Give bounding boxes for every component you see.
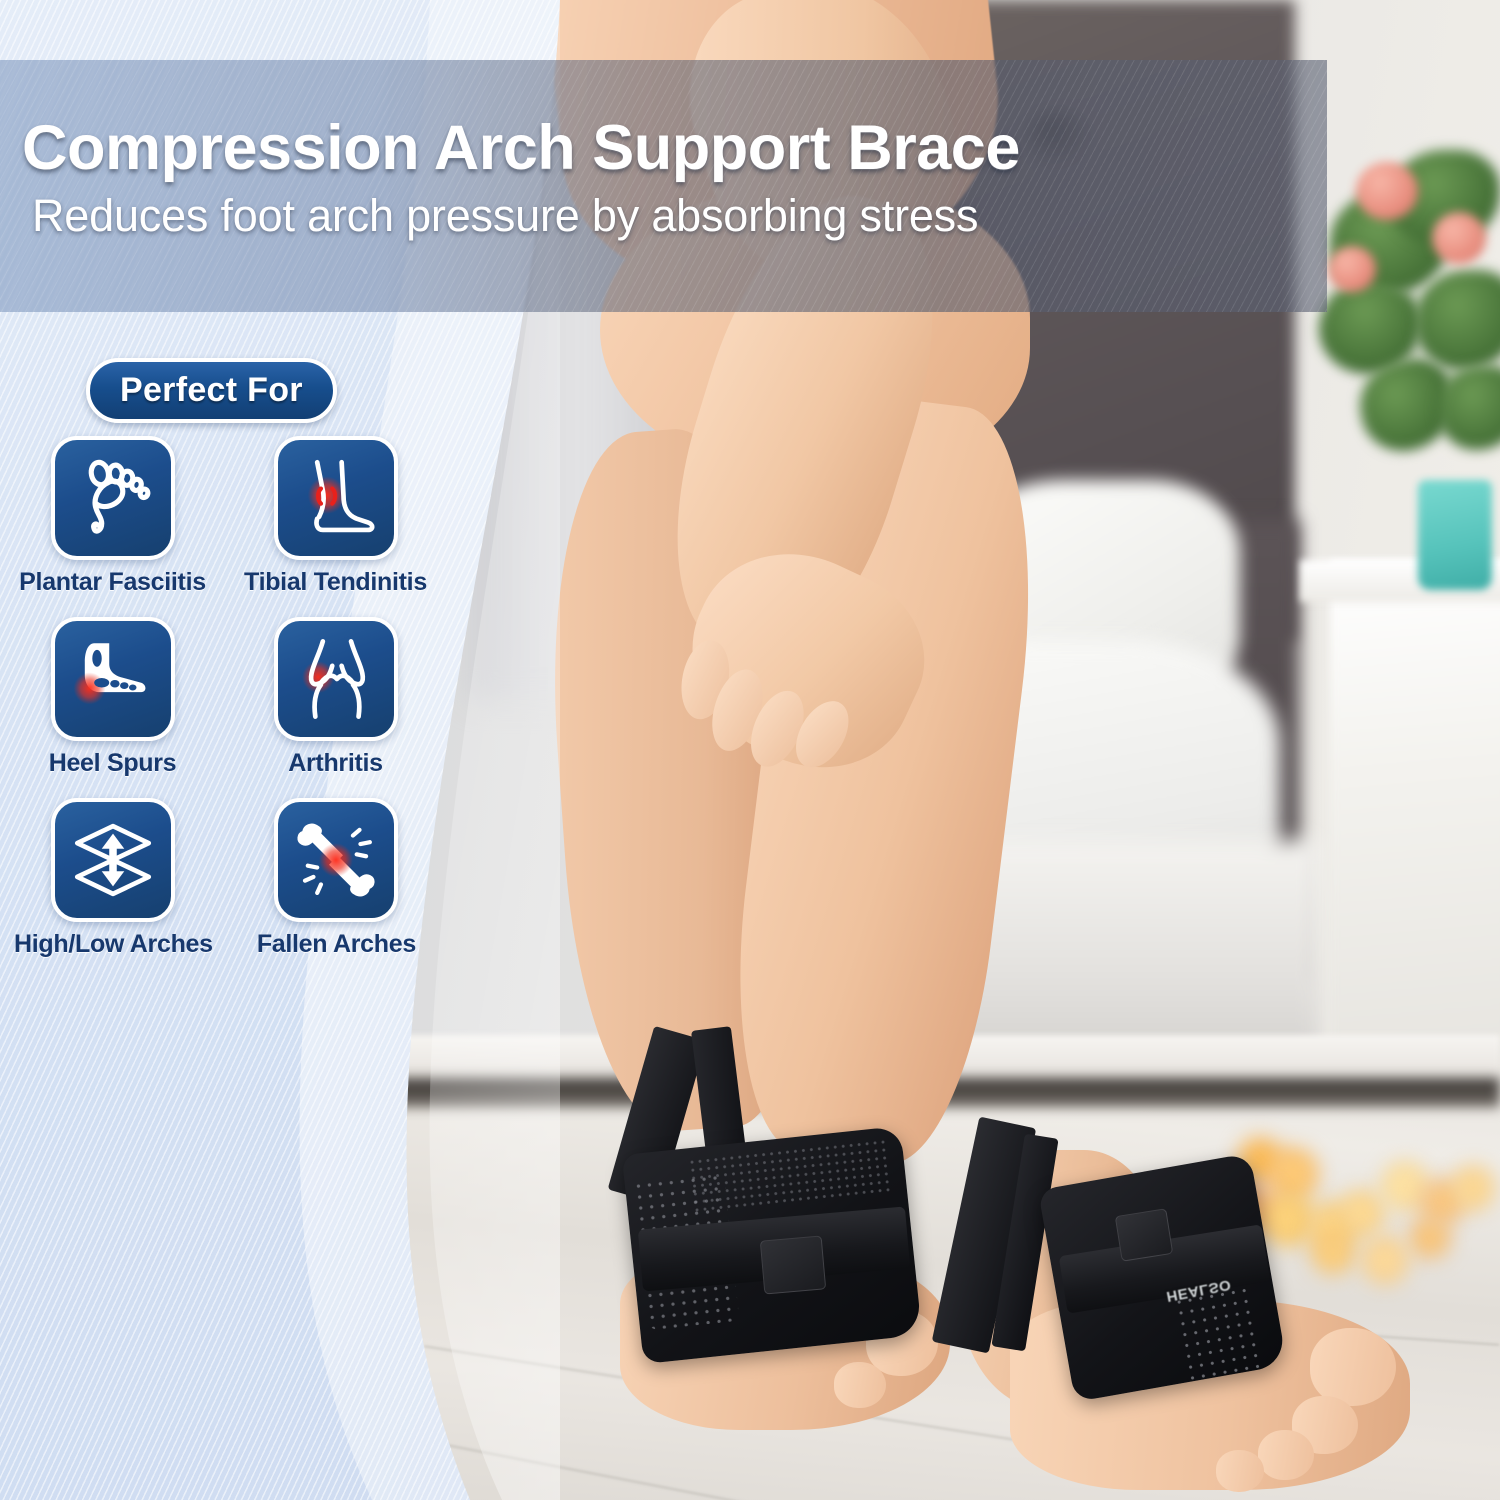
grid-row: Plantar Fasciitis — [14, 436, 434, 597]
icon-tile — [274, 436, 398, 560]
feature-label: Fallen Arches — [257, 930, 416, 959]
icon-tile — [51, 617, 175, 741]
icon-tile — [51, 798, 175, 922]
ankle-pain-icon — [289, 451, 383, 545]
nightstand — [1330, 560, 1500, 1080]
bokeh-light — [1452, 1166, 1494, 1210]
feature-item-arthritis[interactable]: Arthritis — [237, 617, 434, 778]
feature-label: High/Low Arches — [14, 930, 213, 959]
grid-row: High/Low Arches — [14, 798, 434, 959]
footprint-icon — [66, 451, 160, 545]
left-brace-velcro-patch — [760, 1235, 826, 1294]
feature-item-fallen-arches[interactable]: Fallen Arches — [239, 798, 434, 959]
plant-with-roses — [1320, 150, 1500, 510]
icon-tile — [274, 617, 398, 741]
feature-item-tibial-tendinitis[interactable]: Tibial Tendinitis — [237, 436, 434, 597]
arch-height-arrows-icon — [66, 813, 160, 907]
bokeh-light — [1410, 1218, 1450, 1258]
product-marketing-image: HEALSO Compression Arch Support Brace Re… — [0, 0, 1500, 1500]
feature-label: Heel Spurs — [49, 749, 177, 778]
perfect-for-grid: Plantar Fasciitis — [14, 436, 434, 979]
knee-joint-pain-icon — [289, 632, 383, 726]
icon-tile — [51, 436, 175, 560]
perfect-for-badge: Perfect For — [86, 358, 337, 423]
page-subtitle: Reduces foot arch pressure by absorbing … — [32, 190, 978, 242]
page-title: Compression Arch Support Brace — [22, 112, 1020, 184]
feature-item-high-low-arches[interactable]: High/Low Arches — [14, 798, 213, 959]
banner-texture — [0, 60, 1327, 312]
bokeh-light — [1362, 1236, 1408, 1284]
bokeh-light — [1340, 1190, 1384, 1236]
feature-item-plantar-fasciitis[interactable]: Plantar Fasciitis — [14, 436, 211, 597]
feature-label: Tibial Tendinitis — [244, 568, 427, 597]
feature-label: Plantar Fasciitis — [19, 568, 206, 597]
feature-label: Arthritis — [288, 749, 383, 778]
foot-skeleton-heel-pain-icon — [66, 632, 160, 726]
icon-tile — [274, 798, 398, 922]
perfect-for-badge-label: Perfect For — [120, 371, 303, 409]
bokeh-light — [1262, 1192, 1314, 1246]
feature-item-heel-spurs[interactable]: Heel Spurs — [14, 617, 211, 778]
broken-bone-icon — [289, 813, 383, 907]
grid-row: Heel Spurs — [14, 617, 434, 778]
right-brace-velcro-patch — [1115, 1208, 1174, 1262]
bokeh-light — [1312, 1232, 1354, 1274]
header-banner — [0, 60, 1327, 312]
